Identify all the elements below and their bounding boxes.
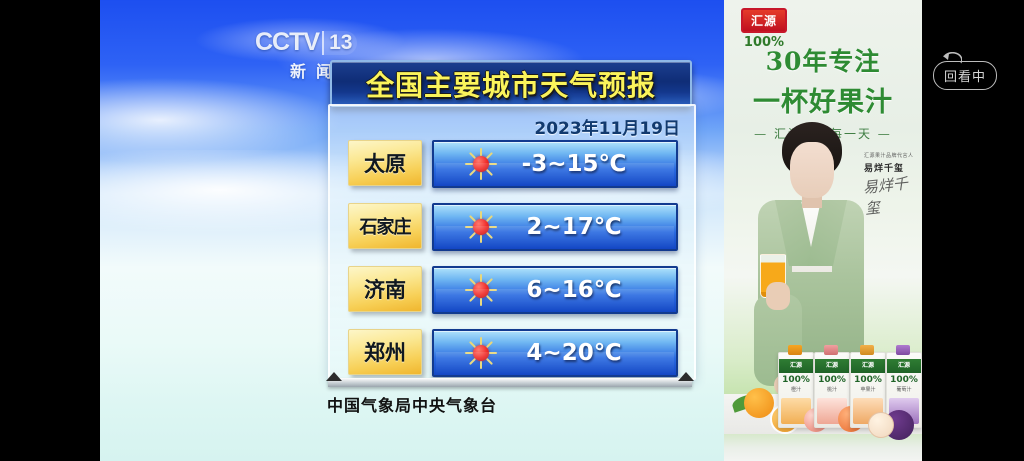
product-pct: 100% [815,375,849,385]
product-pct: 100% [887,375,921,385]
forecast-row-list: 太原 [348,140,678,392]
table-row: 郑州 [348,329,678,373]
temperature-range: 4~20℃ [498,340,676,366]
product-band: 汇源 [779,359,813,373]
product-band: 汇源 [887,359,921,373]
weather-bar: -3~15℃ [432,140,678,188]
product-flavor: 橙汁 [779,386,813,393]
endorser-credit: 汇源果汁品牌代言人 易烊千玺 易烊千玺 [864,152,920,219]
weather-bar: 6~16℃ [432,266,678,314]
apple-slice [868,412,894,438]
advertisement-pane[interactable]: 汇源 100% 30年专注 一杯好果汁 — 汇源爱你每一天 — [724,0,922,461]
sunny-icon [464,273,498,307]
weather-bar: 4~20℃ [432,329,678,377]
product-lineup: 汇源 100% 橙汁 汇源 100% 桃汁 汇源 100% [726,352,922,452]
city-label-chip: 石家庄 [348,203,422,249]
product-band: 汇源 [851,359,885,373]
replay-status-badge[interactable]: 回看中 [933,61,997,90]
city-name: 济南 [364,274,406,304]
forecast-panel: 2023年11月19日 太原 [328,104,696,380]
cctv-channel-number: 13 [322,31,357,55]
product-band: 汇源 [815,359,849,373]
product-flavor: 葡萄汁 [887,386,921,393]
table-row: 石家庄 [348,203,678,247]
weather-broadcast-pane: CCTV 13 新闻 全国主要城市天气预报 2023年11月19日 太原 [100,0,724,461]
weather-bar: 2~17℃ [432,203,678,251]
left-arrow-icon [326,372,342,381]
temperature-range: 2~17℃ [498,214,676,240]
city-name: 太原 [364,148,406,178]
source-attribution: 中国气象局中央气象台 [100,392,724,416]
cctv-wordmark: CCTV [255,30,319,55]
forecast-title-banner: 全国主要城市天气预报 [330,60,692,107]
sunny-icon [464,210,498,244]
city-name: 郑州 [364,337,406,367]
brand-mark: 汇源 [741,8,787,33]
city-label-chip: 太原 [348,140,422,186]
signature-mark: 易烊千玺 [862,171,922,219]
sunny-icon [464,147,498,181]
ad-headline-line2: 一杯好果汁 [724,80,922,119]
city-label-chip: 郑州 [348,329,422,375]
product-flavor: 桃汁 [815,386,849,393]
product-pct: 100% [851,375,885,385]
endorser-role: 汇源果汁品牌代言人 [864,152,920,159]
replay-label: 回看中 [944,66,986,85]
page-title: 全国主要城市天气预报 [366,64,656,104]
city-label-chip: 济南 [348,266,422,312]
video-content-area[interactable]: CCTV 13 新闻 全国主要城市天气预报 2023年11月19日 太原 [100,0,922,461]
table-row: 济南 [348,266,678,310]
city-name: 石家庄 [360,213,411,239]
table-row: 太原 [348,140,678,184]
sunny-icon [464,336,498,370]
panel-bottom-bar [328,378,692,387]
ad-headline-line1: 30年专注 [724,42,922,78]
product-pct: 100% [779,375,813,385]
orange-fruit [744,388,774,418]
temperature-range: 6~16℃ [498,277,676,303]
right-arrow-icon [678,372,694,381]
forecast-date: 2023年11月19日 [534,114,680,139]
broadcast-screen: CCTV 13 新闻 全国主要城市天气预报 2023年11月19日 太原 [0,0,1024,461]
temperature-range: -3~15℃ [498,151,676,177]
product-flavor: 苹果汁 [851,386,885,393]
